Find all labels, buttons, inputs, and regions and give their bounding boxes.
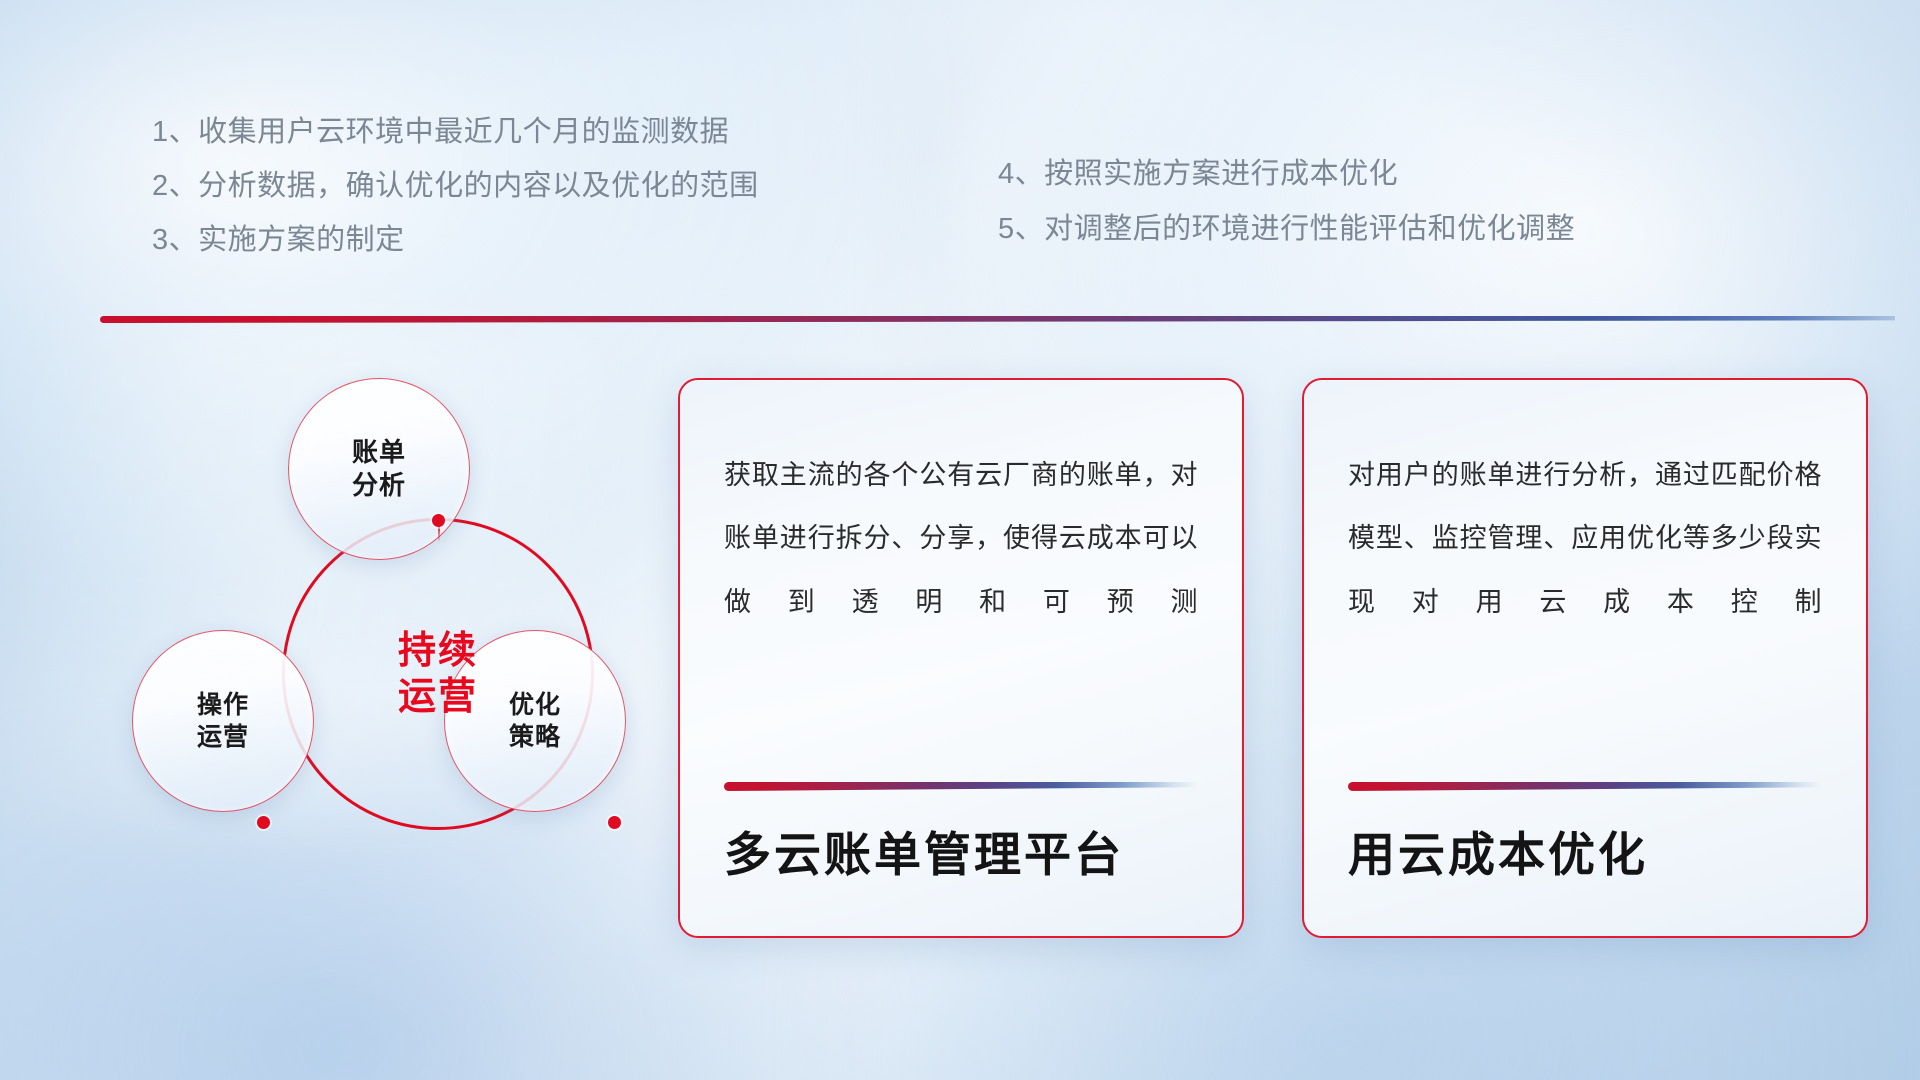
venn-bubble-label-line2: 分析 — [352, 470, 406, 500]
card-cloud-cost-optimization[interactable]: 对用户的账单进行分析，通过匹配价格模型、监控管理、应用优化等多少段实现对用云成本… — [1302, 378, 1868, 938]
node-dot-top — [432, 514, 445, 527]
card-title: 用云成本优化 — [1348, 831, 1822, 878]
venn-center-label: 持续运营 — [282, 518, 594, 830]
card-divider — [1348, 782, 1822, 791]
node-dot-bottom-right — [608, 816, 621, 829]
card-multicloud-billing[interactable]: 获取主流的各个公有云厂商的账单，对账单进行拆分、分享，使得云成本可以做到透明和可… — [678, 378, 1244, 938]
card-body-text: 获取主流的各个公有云厂商的账单，对账单进行拆分、分享，使得云成本可以做到透明和可… — [724, 444, 1198, 634]
step-item: 3、实施方案的制定 — [152, 226, 759, 255]
venn-center-text: 持续运营 — [398, 628, 478, 721]
card-divider — [724, 782, 1198, 791]
step-item: 5、对调整后的环境进行性能评估和优化调整 — [998, 215, 1575, 244]
step-item: 1、收集用户云环境中最近几个月的监测数据 — [152, 118, 759, 147]
steps-right-column: 4、按照实施方案进行成本优化 5、对调整后的环境进行性能评估和优化调整 — [998, 160, 1575, 270]
step-item: 2、分析数据，确认优化的内容以及优化的范围 — [152, 172, 759, 201]
venn-bubble-label-line1: 账单 — [352, 437, 406, 467]
card-title: 多云账单管理平台 — [724, 831, 1198, 878]
card-body-text: 对用户的账单进行分析，通过匹配价格模型、监控管理、应用优化等多少段实现对用云成本… — [1348, 444, 1822, 634]
cards-section: 获取主流的各个公有云厂商的账单，对账单进行拆分、分享，使得云成本可以做到透明和可… — [678, 378, 1878, 938]
venn-bubble-label: 操作 运营 — [197, 689, 249, 753]
venn-bubble-label: 账单 分析 — [352, 436, 406, 503]
venn-bubble-label-line2: 运营 — [197, 723, 249, 751]
connector-tick-top — [438, 526, 440, 542]
venn-bubble-label-line1: 操作 — [197, 691, 249, 719]
venn-diagram: 账单 分析 操作 运营 优化 策略 持续运营 — [96, 350, 656, 950]
step-item: 4、按照实施方案进行成本优化 — [998, 160, 1575, 189]
node-dot-bottom-left — [257, 816, 270, 829]
steps-left-column: 1、收集用户云环境中最近几个月的监测数据 2、分析数据，确认优化的内容以及优化的… — [152, 118, 759, 280]
steps-section: 1、收集用户云环境中最近几个月的监测数据 2、分析数据，确认优化的内容以及优化的… — [0, 0, 1920, 300]
venn-center-line1: 持续 — [398, 630, 478, 672]
venn-center-line2: 运营 — [398, 676, 478, 718]
